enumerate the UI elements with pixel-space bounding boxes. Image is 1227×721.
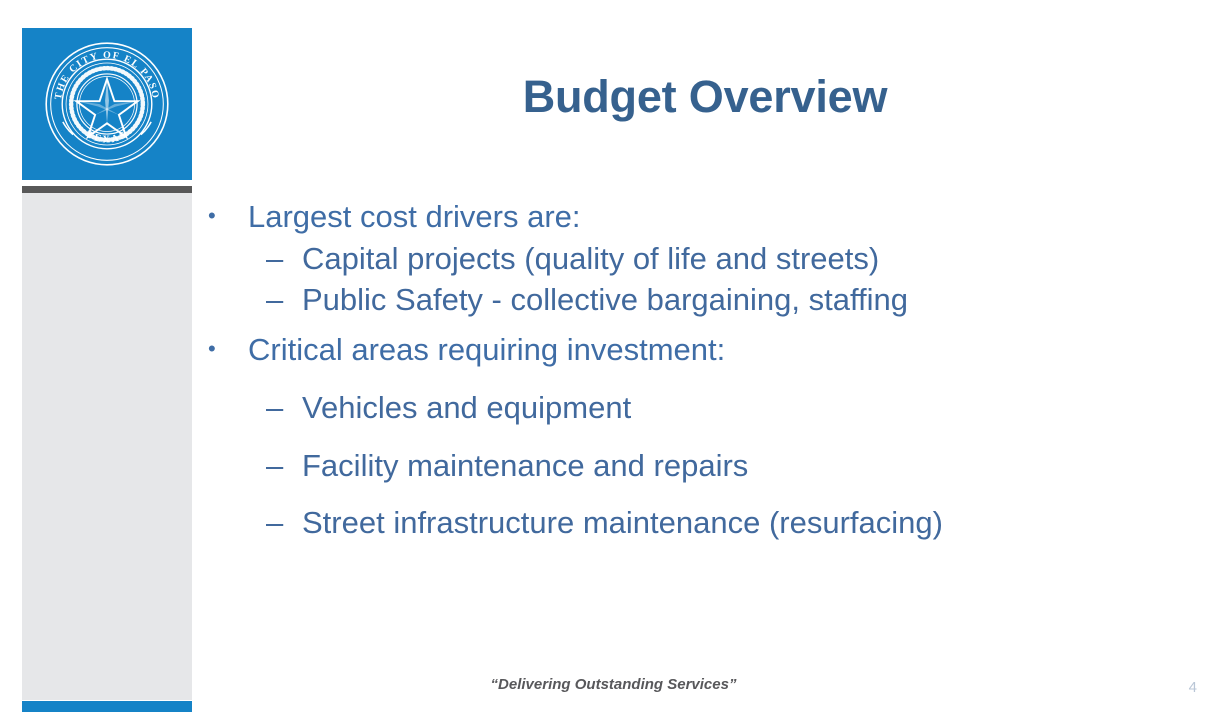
- logo-block: THE CITY OF EL PASO TEXAS: [22, 28, 192, 180]
- bullet-marker-dash: –: [266, 503, 302, 542]
- bullet-level2: – Street infrastructure maintenance (res…: [200, 503, 1006, 542]
- footer-tagline: “Delivering Outstanding Services”: [0, 676, 1227, 693]
- slide-body: • Largest cost drivers are: – Capital pr…: [200, 198, 1210, 544]
- rail-footer-bar: [22, 701, 192, 712]
- bullet-marker-dash: –: [266, 446, 302, 485]
- rail-panel: [22, 193, 192, 700]
- page-number: 4: [1189, 679, 1197, 696]
- bullet-text: Critical areas requiring investment:: [248, 331, 725, 370]
- bullet-marker-dot: •: [200, 198, 248, 234]
- bullet-level1: • Critical areas requiring investment:: [200, 331, 1210, 370]
- bullet-marker-dash: –: [266, 388, 302, 427]
- bullet-text: Facility maintenance and repairs: [302, 446, 1210, 485]
- bullet-text: Vehicles and equipment: [302, 388, 1210, 427]
- bullet-level2: – Capital projects (quality of life and …: [200, 239, 1210, 278]
- bullet-level2: – Vehicles and equipment: [200, 388, 1210, 427]
- bullet-level2: – Facility maintenance and repairs: [200, 446, 1210, 485]
- city-of-el-paso-seal-icon: THE CITY OF EL PASO TEXAS: [43, 40, 171, 168]
- bullet-text: Street infrastructure maintenance (resur…: [302, 503, 1006, 542]
- bullet-level1: • Largest cost drivers are:: [200, 198, 1210, 237]
- rail-divider: [22, 186, 192, 193]
- bullet-marker-dot: •: [200, 331, 248, 367]
- bullet-text: Capital projects (quality of life and st…: [302, 239, 1210, 278]
- slide-title: Budget Overview: [230, 72, 1180, 122]
- bullet-text: Largest cost drivers are:: [248, 198, 581, 237]
- bullet-marker-dash: –: [266, 280, 302, 319]
- bullet-text: Public Safety - collective bargaining, s…: [302, 280, 1210, 319]
- bullet-marker-dash: –: [266, 239, 302, 278]
- bullet-level2: – Public Safety - collective bargaining,…: [200, 280, 1210, 319]
